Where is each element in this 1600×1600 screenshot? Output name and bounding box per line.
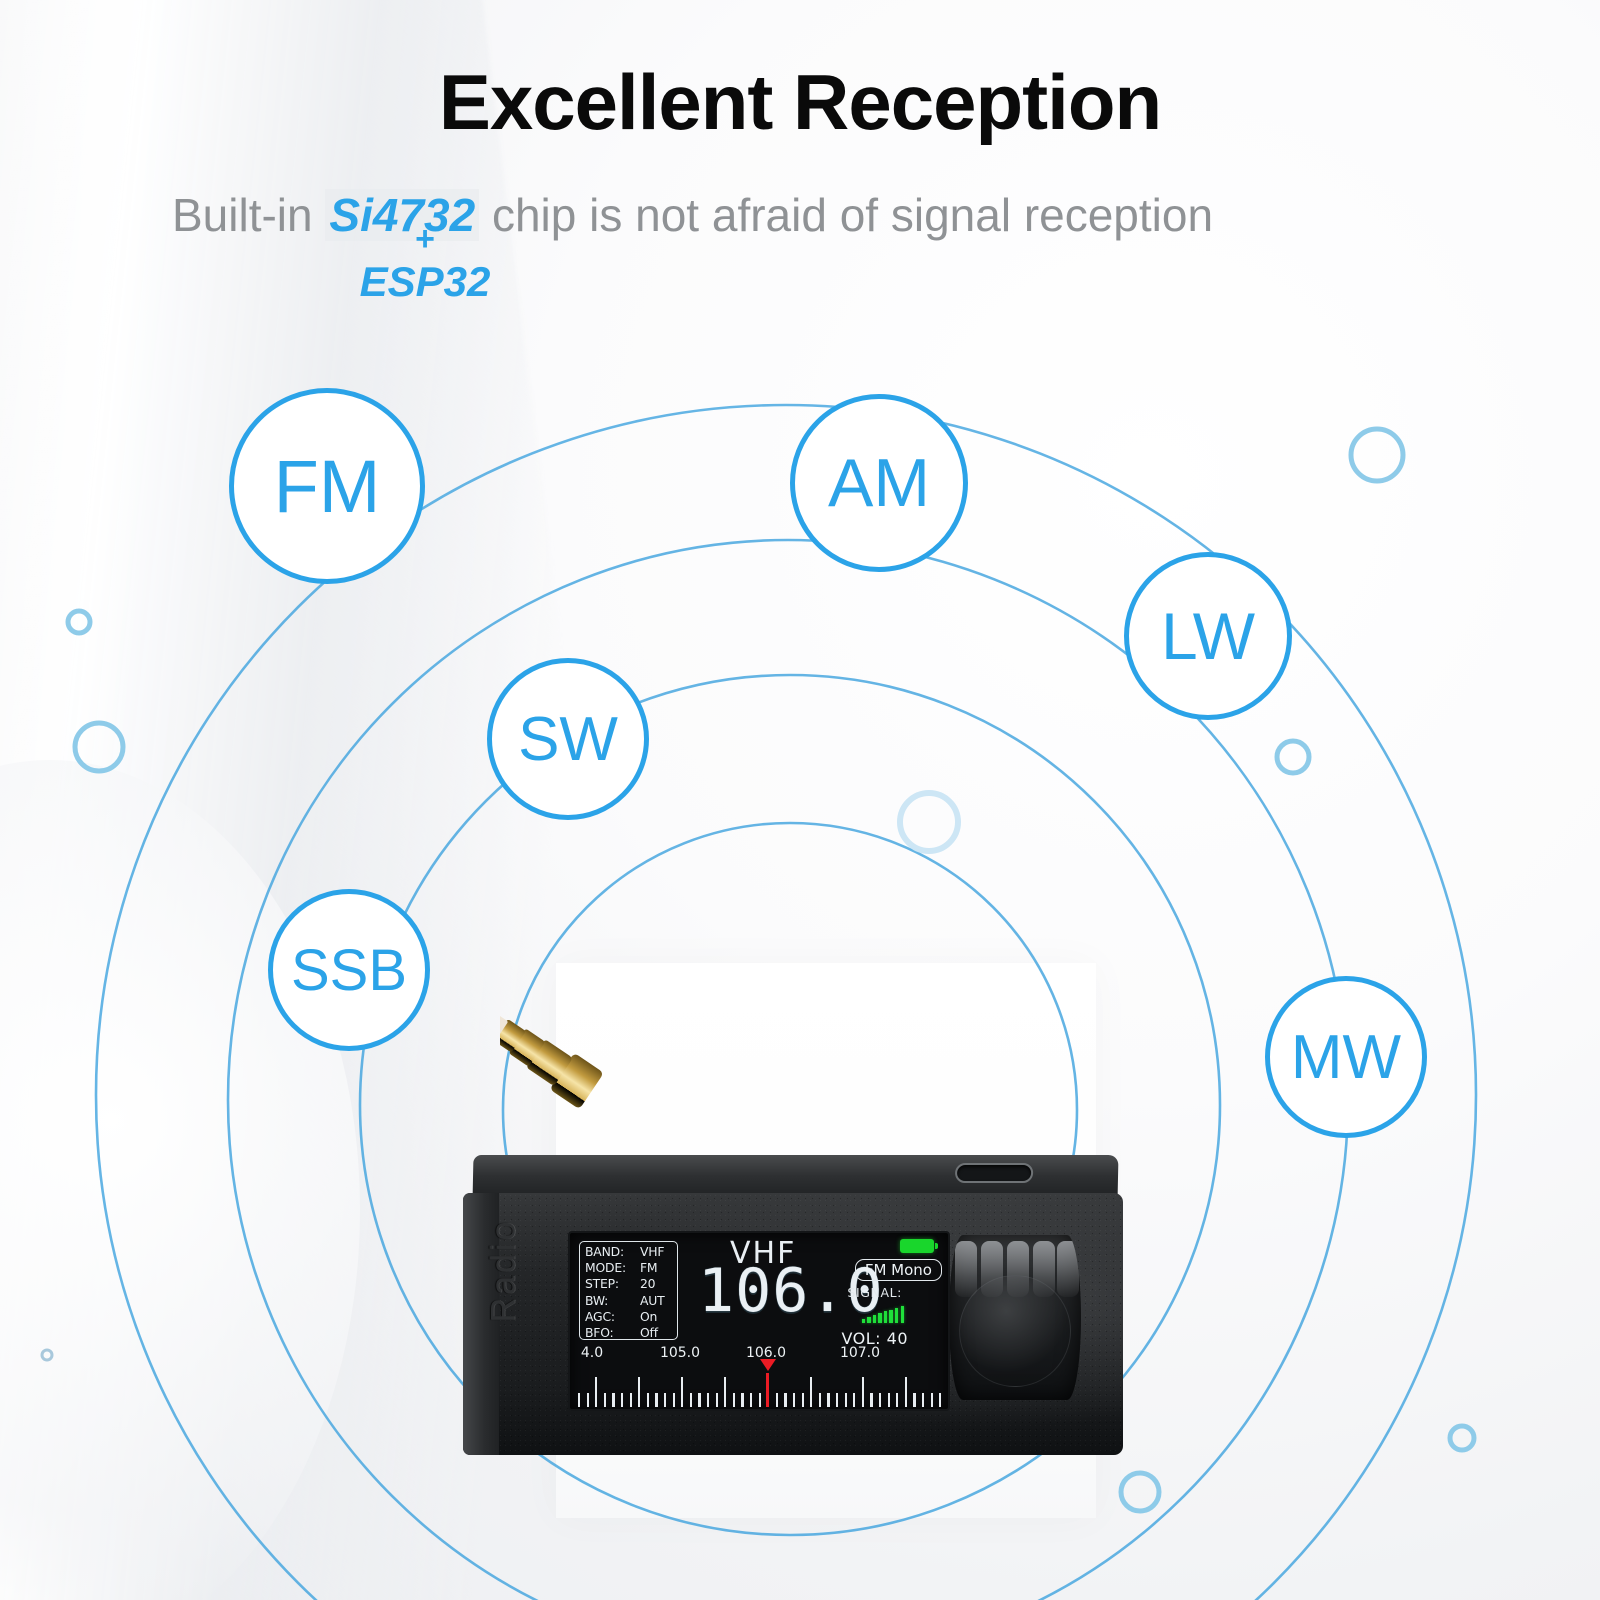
tick-minor bbox=[621, 1393, 623, 1407]
signal-strength-bars bbox=[862, 1305, 904, 1323]
tick-minor bbox=[802, 1393, 804, 1407]
usb-c-port[interactable] bbox=[955, 1163, 1033, 1183]
tuner-label-3: 107.0 bbox=[840, 1345, 880, 1361]
decor-dot-bottomleft bbox=[42, 1350, 52, 1360]
tick-minor bbox=[776, 1393, 778, 1407]
tick-minor bbox=[784, 1393, 786, 1407]
tick-minor bbox=[853, 1393, 855, 1407]
tick-major bbox=[724, 1377, 726, 1407]
tick-minor bbox=[888, 1393, 890, 1407]
tick-minor bbox=[604, 1393, 606, 1407]
tick-minor bbox=[913, 1393, 915, 1407]
tick-minor bbox=[655, 1393, 657, 1407]
info-row-step: STEP:20 bbox=[585, 1276, 674, 1292]
tick-minor bbox=[698, 1393, 700, 1407]
tick-minor bbox=[587, 1393, 589, 1407]
tick-minor bbox=[759, 1393, 761, 1407]
band-bubble-sw[interactable]: SW bbox=[487, 658, 649, 820]
info-key-mode: MODE: bbox=[585, 1260, 626, 1276]
info-val-bfo: Off bbox=[640, 1325, 674, 1341]
radio-device: Radio BAND:VHF MODE:FM STEP:20 BW:AUT AG… bbox=[455, 1155, 1135, 1465]
decor-ring-center-faint bbox=[900, 793, 958, 851]
tuner-label-0: 4.0 bbox=[581, 1345, 603, 1361]
band-bubble-ssb[interactable]: SSB bbox=[268, 889, 430, 1051]
tick-minor bbox=[939, 1393, 941, 1407]
info-val-bw: AUT bbox=[640, 1293, 674, 1309]
tick-minor bbox=[741, 1393, 743, 1407]
tuning-knob[interactable] bbox=[949, 1235, 1081, 1400]
status-info-panel: BAND:VHF MODE:FM STEP:20 BW:AUT AGC:On B… bbox=[579, 1241, 678, 1340]
tick-major bbox=[862, 1377, 864, 1407]
info-val-mode: FM bbox=[640, 1260, 674, 1276]
tick-minor bbox=[750, 1393, 752, 1407]
decor-ring-bottom-right bbox=[1450, 1426, 1474, 1450]
tick-minor bbox=[630, 1393, 632, 1407]
tick-major bbox=[681, 1377, 683, 1407]
decor-ring-left-upper bbox=[68, 611, 90, 633]
page-title: Excellent Reception bbox=[0, 62, 1600, 144]
tick-minor bbox=[819, 1393, 821, 1407]
tick-minor bbox=[896, 1393, 898, 1407]
tick-minor bbox=[690, 1393, 692, 1407]
battery-icon bbox=[900, 1239, 934, 1253]
info-val-step: 20 bbox=[640, 1276, 674, 1292]
info-key-agc: AGC: bbox=[585, 1309, 615, 1325]
band-bubble-am[interactable]: AM bbox=[790, 394, 968, 572]
decor-ring-right-mid bbox=[1277, 741, 1309, 773]
info-row-bw: BW:AUT bbox=[585, 1293, 674, 1309]
info-key-bw: BW: bbox=[585, 1293, 608, 1309]
tick-minor bbox=[664, 1393, 666, 1407]
tuner-marker-triangle bbox=[760, 1359, 776, 1371]
band-bubble-mw[interactable]: MW bbox=[1265, 976, 1427, 1138]
tick-minor bbox=[845, 1393, 847, 1407]
tick-minor bbox=[836, 1393, 838, 1407]
tuner-marker-line bbox=[766, 1373, 769, 1407]
signal-bar bbox=[873, 1315, 876, 1323]
tuner-tick-marks bbox=[570, 1373, 950, 1407]
tick-minor bbox=[707, 1393, 709, 1407]
signal-bar bbox=[895, 1308, 898, 1323]
tick-major bbox=[810, 1377, 812, 1407]
signal-bar bbox=[901, 1306, 904, 1323]
decor-ring-topright bbox=[1351, 429, 1403, 481]
info-row-bfo: BFO:Off bbox=[585, 1325, 674, 1341]
signal-bar bbox=[889, 1310, 892, 1324]
tick-minor bbox=[716, 1393, 718, 1407]
info-val-band: VHF bbox=[640, 1244, 674, 1260]
tick-major bbox=[638, 1377, 640, 1407]
tick-minor bbox=[879, 1393, 881, 1407]
tick-minor bbox=[793, 1393, 795, 1407]
info-row-band: BAND:VHF bbox=[585, 1244, 674, 1260]
tuning-scale: 4.0 105.0 106.0 107.0 bbox=[570, 1345, 950, 1409]
tick-minor bbox=[870, 1393, 872, 1407]
signal-bar bbox=[862, 1319, 865, 1323]
info-key-bfo: BFO: bbox=[585, 1325, 614, 1341]
tick-major bbox=[595, 1377, 597, 1407]
device-brand-label: Radio bbox=[485, 1196, 524, 1346]
mode-badge: FM Mono bbox=[855, 1259, 942, 1281]
decor-ring-left-lower bbox=[75, 723, 123, 771]
signal-label: SIGNAL: bbox=[847, 1285, 902, 1300]
tick-minor bbox=[931, 1393, 933, 1407]
header-block: Excellent Reception bbox=[0, 0, 1600, 144]
info-row-agc: AGC:On bbox=[585, 1309, 674, 1325]
tick-minor bbox=[647, 1393, 649, 1407]
signal-bar bbox=[878, 1313, 881, 1323]
tick-minor bbox=[922, 1393, 924, 1407]
signal-bar bbox=[884, 1311, 887, 1323]
decor-ring-bottom-left bbox=[1121, 1473, 1159, 1511]
tick-minor bbox=[612, 1393, 614, 1407]
band-bubble-lw[interactable]: LW bbox=[1124, 552, 1292, 720]
info-row-mode: MODE:FM bbox=[585, 1260, 674, 1276]
tick-minor bbox=[827, 1393, 829, 1407]
tick-major bbox=[905, 1377, 907, 1407]
band-bubble-fm[interactable]: FM bbox=[229, 388, 425, 584]
info-key-band: BAND: bbox=[585, 1244, 624, 1260]
tick-minor bbox=[673, 1393, 675, 1407]
info-val-agc: On bbox=[640, 1309, 674, 1325]
signal-bar bbox=[867, 1317, 870, 1323]
tick-minor bbox=[948, 1393, 950, 1407]
info-key-step: STEP: bbox=[585, 1276, 619, 1292]
tick-minor bbox=[733, 1393, 735, 1407]
tuner-label-1: 105.0 bbox=[660, 1345, 700, 1361]
lcd-screen: BAND:VHF MODE:FM STEP:20 BW:AUT AGC:On B… bbox=[568, 1231, 950, 1411]
tick-minor bbox=[578, 1393, 580, 1407]
